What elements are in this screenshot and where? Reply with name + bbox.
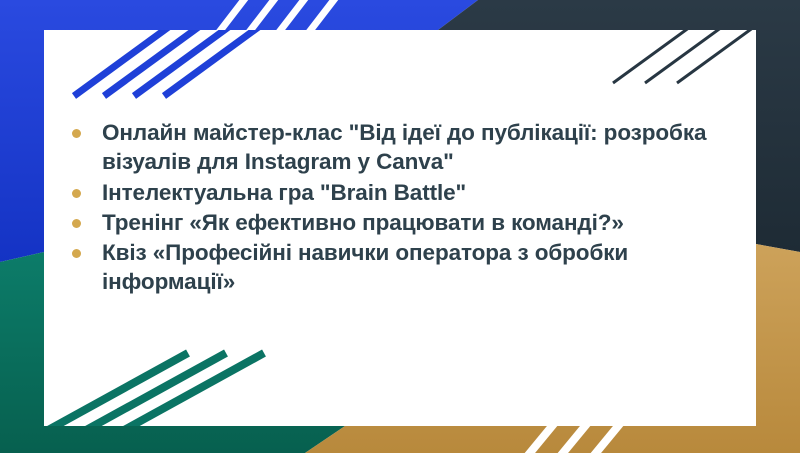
list-item-label: Онлайн майстер-клас "Від ідеї до публіка… <box>102 118 752 177</box>
bullet-dot-icon <box>72 189 81 198</box>
bullet-dot-icon <box>72 219 81 228</box>
list-item-label: Інтелектуальна гра "Brain Battle" <box>102 178 752 207</box>
slide-content-area: Онлайн майстер-клас "Від ідеї до публіка… <box>44 30 756 426</box>
bullet-dot-icon <box>72 249 81 258</box>
list-item: Квіз «Професійні навички оператора з обр… <box>62 238 752 297</box>
list-item: Тренінг «Як ефективно працювати в команд… <box>62 208 752 237</box>
list-item-label: Тренінг «Як ефективно працювати в команд… <box>102 208 752 237</box>
list-item-label: Квіз «Професійні навички оператора з обр… <box>102 238 752 297</box>
presentation-slide: Онлайн майстер-клас "Від ідеї до публіка… <box>0 0 800 453</box>
list-item: Інтелектуальна гра "Brain Battle" <box>62 178 752 207</box>
bullet-dot-icon <box>72 129 81 138</box>
list-item: Онлайн майстер-клас "Від ідеї до публіка… <box>62 118 752 177</box>
event-bullet-list: Онлайн майстер-клас "Від ідеї до публіка… <box>62 118 752 298</box>
